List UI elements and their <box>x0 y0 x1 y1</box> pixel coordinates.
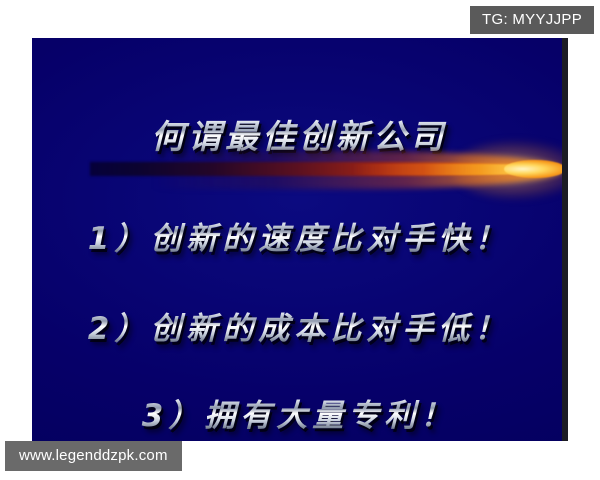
comet-tail <box>90 162 560 176</box>
slide-bullet-3: 3）拥有大量专利！ <box>32 390 566 435</box>
comet-head <box>504 160 566 178</box>
watermark-telegram: TG: MYYJJPP <box>470 6 594 34</box>
slide-bullet-1: 1）创新的速度比对手快！ <box>32 213 566 258</box>
slide-bullet-2: 2）创新的成本比对手低！ <box>32 303 566 348</box>
slide-right-bezel <box>562 38 568 441</box>
presentation-slide: 何谓最佳创新公司 1）创新的速度比对手快！ 2）创新的成本比对手低！ 3）拥有大… <box>32 38 566 441</box>
comet-core <box>352 164 557 175</box>
watermark-website: www.legenddzpk.com <box>5 441 182 471</box>
slide-title: 何谓最佳创新公司 <box>32 110 566 158</box>
